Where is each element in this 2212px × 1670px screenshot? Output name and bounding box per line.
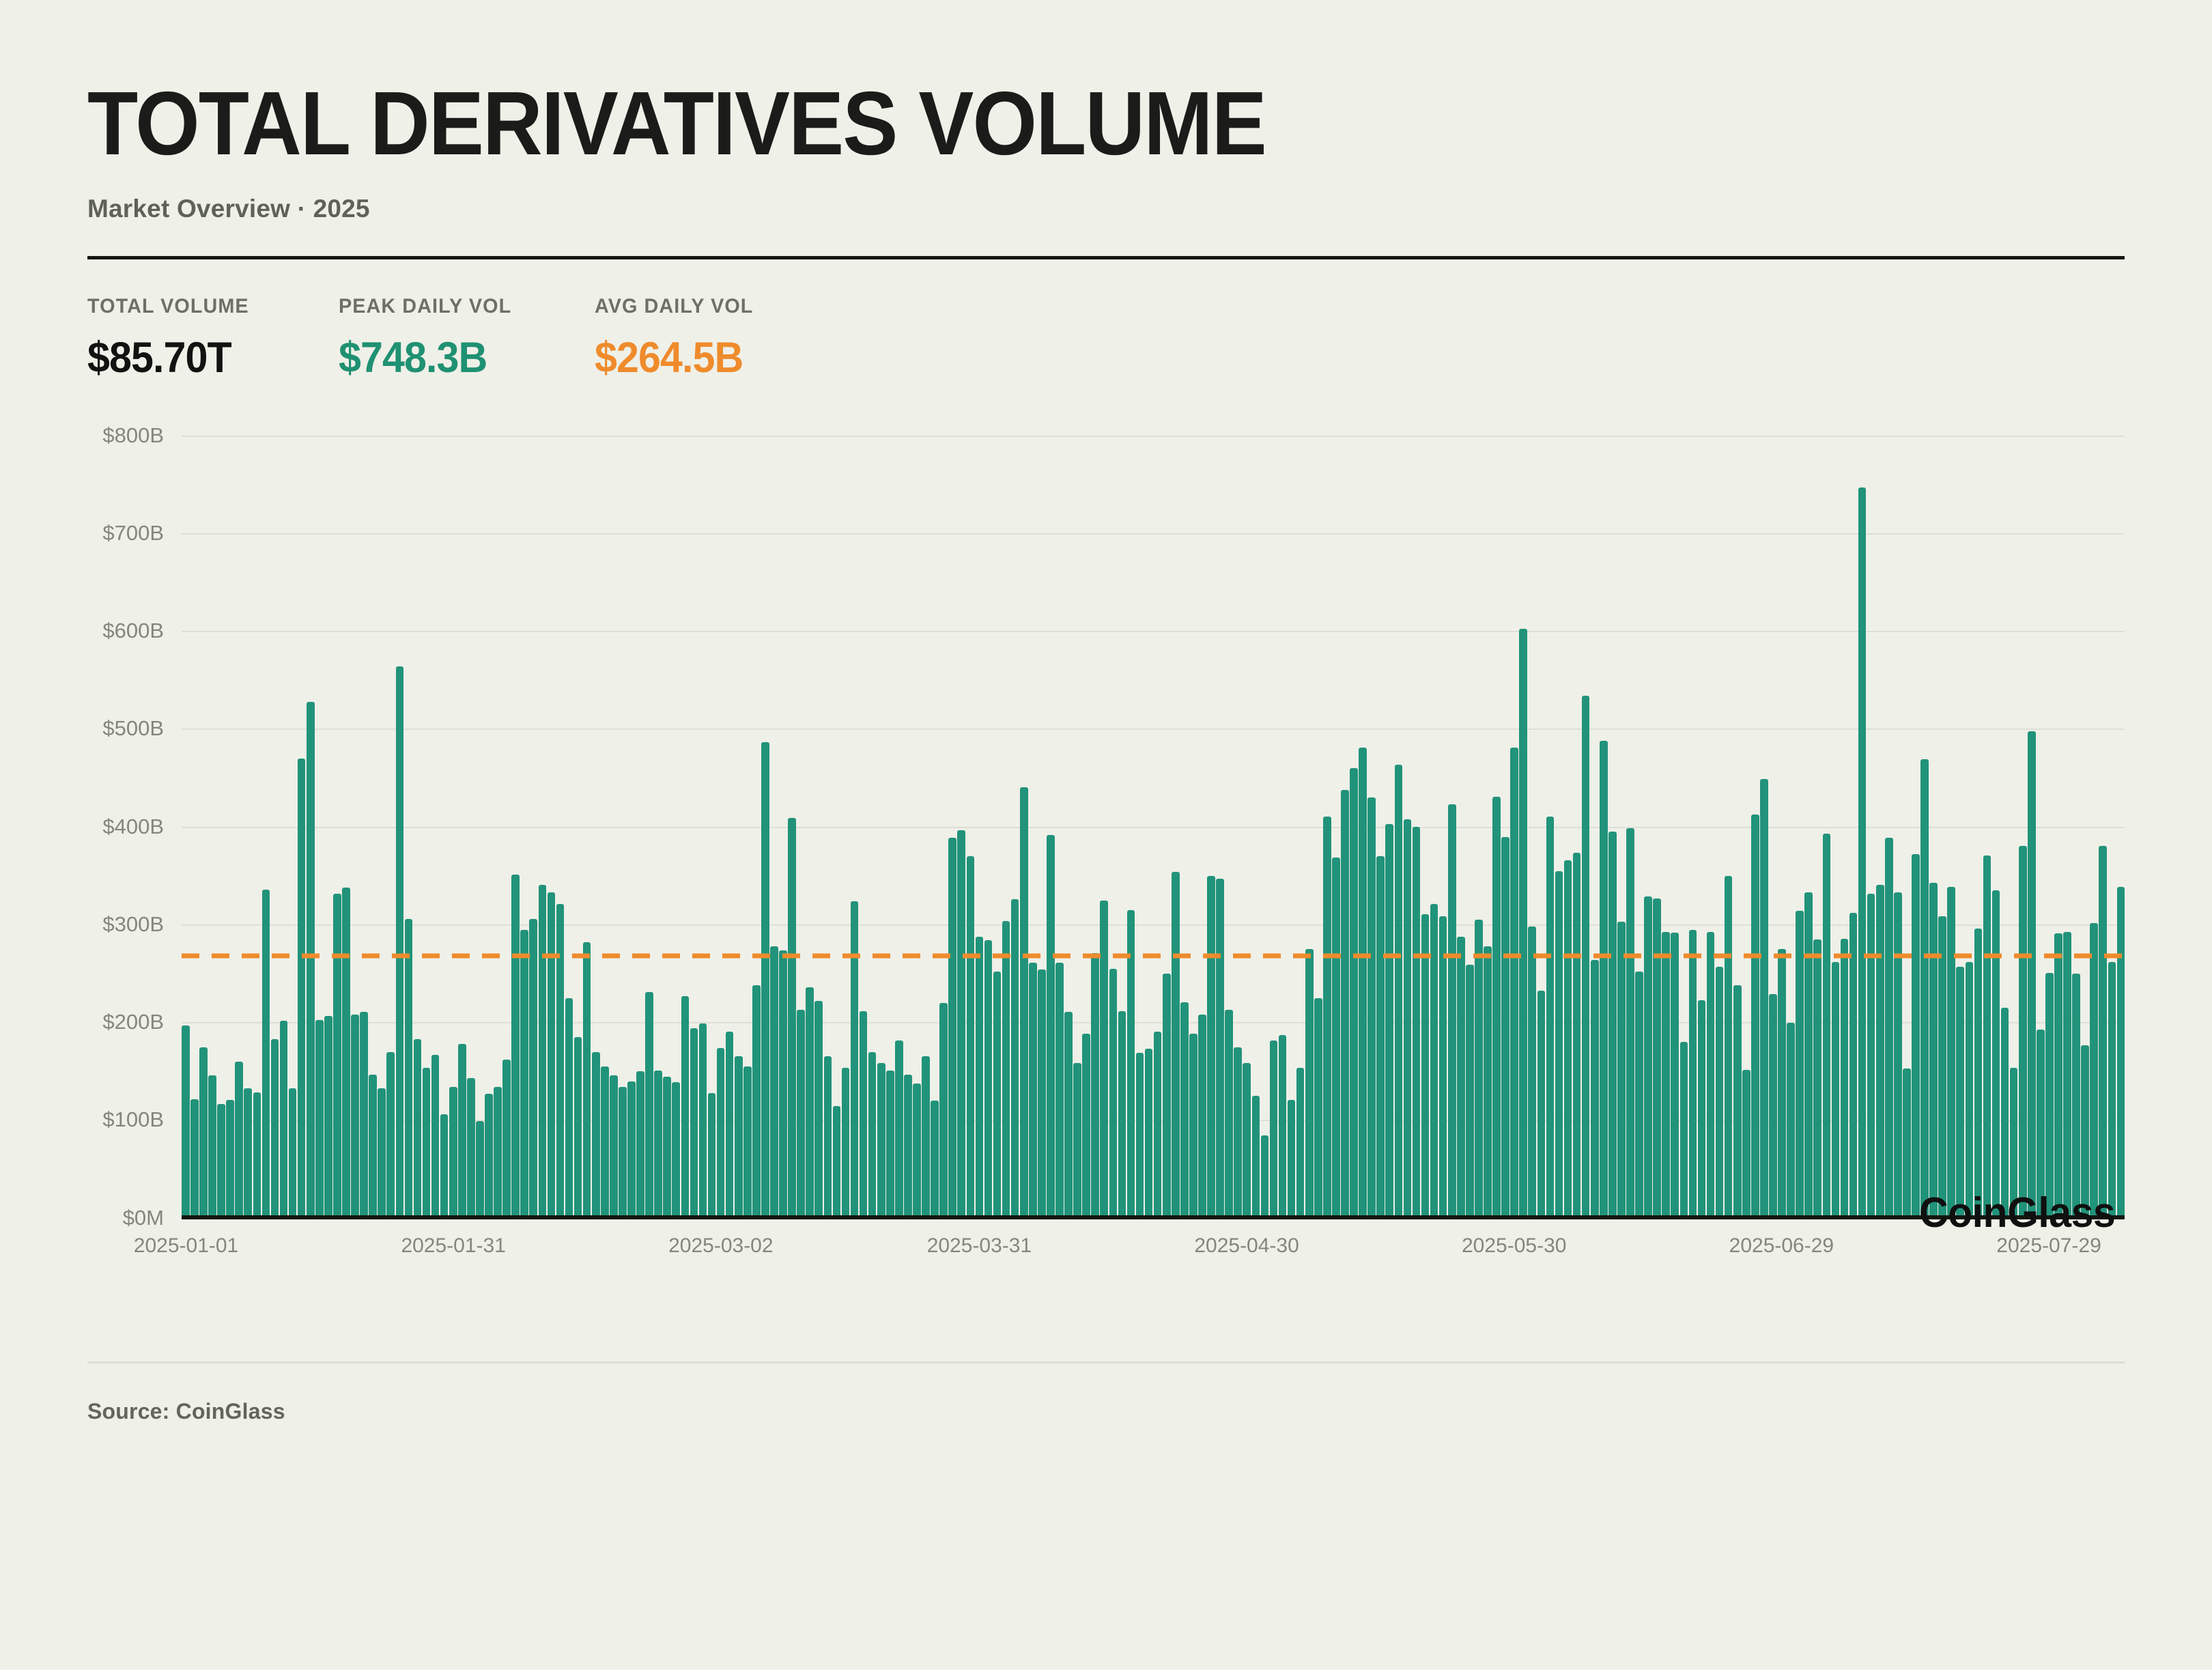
bar bbox=[1207, 876, 1215, 1219]
bar bbox=[806, 987, 814, 1219]
bar bbox=[1698, 1000, 1706, 1219]
bar bbox=[298, 759, 306, 1219]
bar bbox=[610, 1075, 618, 1219]
bar bbox=[1376, 856, 1385, 1219]
bar bbox=[1296, 1068, 1305, 1219]
bar bbox=[2063, 932, 2071, 1219]
bar bbox=[511, 875, 520, 1219]
bar bbox=[2001, 1008, 2009, 1219]
bar bbox=[1047, 835, 1055, 1219]
bar bbox=[199, 1047, 208, 1219]
bar bbox=[307, 702, 315, 1219]
bar bbox=[1841, 939, 1849, 1219]
bar bbox=[1823, 834, 1831, 1219]
bar bbox=[396, 666, 404, 1219]
bar bbox=[833, 1106, 841, 1219]
volume-bar-chart: $0M$100B$200B$300B$400B$500B$600B$700B$8… bbox=[87, 422, 2125, 1303]
x-axis-tick-label: 2025-06-29 bbox=[1729, 1234, 1834, 1258]
x-axis-tick-label: 2025-07-29 bbox=[1996, 1234, 2101, 1258]
bar bbox=[360, 1012, 368, 1219]
bar bbox=[1769, 994, 1777, 1219]
bar bbox=[814, 1001, 823, 1219]
y-axis-tick-label: $500B bbox=[102, 716, 164, 741]
bar bbox=[1404, 819, 1412, 1219]
infographic-page: TOTAL DERIVATIVES VOLUME Market Overview… bbox=[0, 0, 2212, 1670]
x-axis-tick-label: 2025-04-30 bbox=[1194, 1234, 1299, 1258]
bar bbox=[1367, 797, 1376, 1219]
bar bbox=[1154, 1032, 1162, 1219]
bar bbox=[1662, 932, 1670, 1219]
bar bbox=[1323, 817, 1331, 1219]
bar bbox=[1216, 879, 1224, 1219]
bar bbox=[627, 1081, 636, 1219]
bar bbox=[770, 946, 778, 1219]
bar bbox=[1546, 817, 1555, 1219]
bar bbox=[1055, 963, 1064, 1219]
bar bbox=[1118, 1011, 1126, 1219]
bar bbox=[1421, 914, 1430, 1219]
bar bbox=[1002, 921, 1010, 1219]
bar bbox=[405, 919, 413, 1219]
bar bbox=[860, 1011, 868, 1219]
bar bbox=[315, 1020, 324, 1219]
bar bbox=[743, 1066, 752, 1219]
bar bbox=[1716, 967, 1724, 1219]
bar bbox=[1920, 759, 1929, 1219]
bar bbox=[253, 1092, 261, 1219]
bar bbox=[1305, 949, 1314, 1219]
bar bbox=[1867, 894, 1875, 1219]
bar bbox=[636, 1071, 644, 1219]
bar bbox=[1475, 920, 1483, 1219]
bar bbox=[1813, 939, 1821, 1219]
bar bbox=[1519, 629, 1527, 1219]
bar bbox=[423, 1068, 431, 1219]
bar bbox=[386, 1052, 395, 1219]
bar bbox=[726, 1032, 734, 1219]
bar bbox=[672, 1082, 680, 1219]
bar bbox=[449, 1087, 457, 1219]
bar bbox=[1448, 804, 1456, 1219]
bar bbox=[663, 1077, 671, 1219]
bar bbox=[1064, 1012, 1073, 1219]
bar bbox=[904, 1075, 912, 1219]
bar bbox=[681, 996, 690, 1219]
y-axis-tick-label: $100B bbox=[102, 1107, 164, 1132]
bar bbox=[1011, 899, 1019, 1219]
bar bbox=[1938, 916, 1946, 1219]
y-axis-tick-label: $200B bbox=[102, 1010, 164, 1034]
bar bbox=[1966, 962, 1974, 1219]
bar bbox=[1858, 487, 1867, 1219]
kpi-total-volume-label: TOTAL VOLUME bbox=[87, 295, 328, 318]
bar bbox=[957, 830, 965, 1219]
bar bbox=[2108, 962, 2116, 1219]
bar bbox=[1439, 916, 1447, 1219]
bar bbox=[2045, 973, 2054, 1219]
bar bbox=[1947, 887, 1955, 1219]
bar bbox=[476, 1121, 484, 1219]
bar bbox=[1885, 838, 1893, 1219]
bar bbox=[1671, 933, 1679, 1219]
bar bbox=[1555, 871, 1563, 1219]
bar bbox=[548, 892, 556, 1219]
bar bbox=[1430, 904, 1438, 1219]
bar bbox=[1492, 797, 1501, 1219]
source-note: Source: CoinGlass bbox=[87, 1363, 2125, 1424]
bar bbox=[993, 972, 1002, 1219]
bar bbox=[369, 1075, 377, 1219]
bar bbox=[1653, 898, 1661, 1219]
bar bbox=[1109, 969, 1118, 1219]
bar bbox=[1617, 922, 1626, 1219]
bar bbox=[699, 1023, 707, 1219]
kpi-avg-daily-vol-label: AVG DAILY VOL bbox=[595, 295, 844, 318]
bar bbox=[886, 1071, 894, 1219]
bar bbox=[690, 1028, 698, 1219]
chart-x-axis: 2025-01-012025-01-312025-03-022025-03-31… bbox=[182, 1234, 2125, 1264]
x-axis-tick-label: 2025-01-01 bbox=[134, 1234, 238, 1258]
y-axis-tick-label: $700B bbox=[102, 521, 164, 546]
bar bbox=[502, 1060, 511, 1219]
bar bbox=[1644, 896, 1652, 1219]
x-axis-tick-label: 2025-03-31 bbox=[927, 1234, 1032, 1258]
bar bbox=[414, 1039, 422, 1219]
bar bbox=[1707, 932, 1715, 1219]
kpi-total-volume: TOTAL VOLUME $85.70T bbox=[87, 295, 339, 382]
bar bbox=[1261, 1135, 1269, 1219]
bar bbox=[262, 890, 270, 1219]
bar bbox=[494, 1087, 502, 1219]
bar bbox=[868, 1052, 877, 1219]
bar bbox=[1608, 832, 1617, 1219]
bar bbox=[1082, 1034, 1090, 1219]
bar bbox=[2037, 1030, 2045, 1219]
bar bbox=[1359, 748, 1367, 1219]
x-axis-tick-label: 2025-01-31 bbox=[401, 1234, 505, 1258]
bar bbox=[797, 1010, 805, 1219]
bar bbox=[1510, 748, 1518, 1219]
bar bbox=[931, 1101, 939, 1219]
bar bbox=[1020, 787, 1028, 1219]
bar bbox=[913, 1084, 921, 1219]
bar bbox=[1189, 1034, 1197, 1219]
chart-plot-area: $0M$100B$200B$300B$400B$500B$600B$700B$8… bbox=[182, 437, 2125, 1219]
bar bbox=[1484, 946, 1492, 1219]
bar bbox=[1252, 1096, 1260, 1219]
bar bbox=[1528, 926, 1536, 1219]
bar bbox=[1243, 1063, 1251, 1219]
bar bbox=[190, 1099, 199, 1219]
bar bbox=[1163, 974, 1171, 1219]
bar bbox=[324, 1016, 332, 1219]
bar bbox=[1270, 1041, 1278, 1219]
bar bbox=[556, 904, 565, 1219]
bar bbox=[2090, 923, 2098, 1219]
bar bbox=[2010, 1068, 2018, 1219]
bar bbox=[458, 1044, 466, 1219]
y-axis-tick-label: $600B bbox=[102, 619, 164, 643]
bar bbox=[1992, 890, 2000, 1219]
bar bbox=[1180, 1002, 1189, 1219]
bar bbox=[1279, 1035, 1287, 1219]
bar bbox=[1288, 1100, 1296, 1219]
y-axis-tick-label: $800B bbox=[102, 423, 164, 448]
bar bbox=[467, 1078, 475, 1219]
bar bbox=[1974, 929, 1983, 1219]
bar bbox=[440, 1114, 449, 1219]
average-line bbox=[182, 953, 2125, 958]
bar bbox=[1894, 892, 1902, 1219]
x-axis-tick-label: 2025-05-30 bbox=[1462, 1234, 1566, 1258]
bar bbox=[1136, 1053, 1144, 1219]
bar bbox=[939, 1003, 948, 1219]
bar bbox=[1413, 827, 1421, 1219]
y-axis-tick-label: $400B bbox=[102, 815, 164, 839]
bar bbox=[851, 901, 859, 1219]
bar bbox=[1198, 1015, 1206, 1219]
bar bbox=[976, 937, 984, 1219]
bar bbox=[2054, 933, 2062, 1219]
bar bbox=[583, 942, 591, 1219]
bar bbox=[485, 1094, 493, 1219]
kpi-avg-daily-vol-value: $264.5B bbox=[595, 318, 838, 382]
bar bbox=[654, 1071, 662, 1219]
bar bbox=[1234, 1047, 1242, 1219]
bar bbox=[1537, 991, 1546, 1219]
bar bbox=[226, 1100, 234, 1219]
bar bbox=[1314, 998, 1322, 1219]
bar bbox=[1385, 824, 1393, 1219]
bar bbox=[877, 1063, 885, 1219]
y-axis-tick-label: $300B bbox=[102, 912, 164, 937]
bar bbox=[1600, 741, 1608, 1219]
bar bbox=[565, 998, 573, 1219]
bar bbox=[2072, 974, 2080, 1219]
bar bbox=[1172, 872, 1180, 1219]
bar bbox=[984, 940, 993, 1219]
chart-baseline-axis bbox=[182, 1215, 2125, 1219]
bar bbox=[1876, 885, 1884, 1219]
bar bbox=[235, 1062, 243, 1219]
bar bbox=[1501, 837, 1509, 1219]
chart-bars bbox=[182, 437, 2125, 1219]
bar bbox=[1804, 892, 1813, 1219]
bar bbox=[592, 1052, 600, 1219]
kpi-peak-daily-vol: PEAK DAILY VOL $748.3B bbox=[339, 295, 595, 382]
bar bbox=[378, 1088, 386, 1219]
bar bbox=[1912, 854, 1920, 1219]
bar bbox=[948, 838, 956, 1219]
bar bbox=[1956, 967, 1964, 1219]
bar bbox=[342, 888, 350, 1219]
bar bbox=[2117, 887, 2125, 1219]
bar bbox=[1073, 1063, 1081, 1219]
bar bbox=[520, 930, 528, 1219]
kpi-avg-daily-vol: AVG DAILY VOL $264.5B bbox=[595, 295, 854, 382]
bar bbox=[280, 1021, 288, 1219]
bar bbox=[1564, 860, 1572, 1219]
bar bbox=[244, 1088, 252, 1219]
bar bbox=[1466, 965, 1474, 1219]
bar bbox=[271, 1039, 279, 1219]
bar bbox=[1778, 949, 1786, 1219]
bar bbox=[779, 950, 787, 1219]
bar bbox=[1983, 855, 1991, 1219]
bar bbox=[1591, 960, 1599, 1219]
bar bbox=[761, 742, 769, 1219]
bar bbox=[1029, 963, 1037, 1219]
bar bbox=[217, 1104, 225, 1219]
bar bbox=[1626, 828, 1634, 1219]
bar bbox=[1733, 985, 1742, 1219]
bar bbox=[289, 1088, 297, 1219]
bar bbox=[351, 1015, 359, 1219]
bar bbox=[1350, 768, 1358, 1219]
bar bbox=[1457, 937, 1465, 1219]
x-axis-tick-label: 2025-03-02 bbox=[668, 1234, 773, 1258]
bar bbox=[1038, 970, 1046, 1219]
bar bbox=[717, 1048, 725, 1219]
kpi-total-volume-value: $85.70T bbox=[87, 318, 324, 382]
bar bbox=[735, 1056, 743, 1219]
bar bbox=[1832, 962, 1840, 1219]
bar bbox=[2099, 846, 2107, 1219]
bar bbox=[1760, 779, 1768, 1219]
bar bbox=[708, 1093, 716, 1219]
bar bbox=[645, 992, 653, 1219]
y-axis-tick-label: $0M bbox=[123, 1206, 164, 1230]
bar bbox=[1680, 1042, 1688, 1219]
bar bbox=[967, 856, 975, 1219]
bar bbox=[1787, 1023, 1795, 1219]
bar bbox=[2019, 846, 2027, 1219]
bar bbox=[922, 1056, 930, 1219]
bar bbox=[2081, 1045, 2089, 1219]
kpi-row: TOTAL VOLUME $85.70T PEAK DAILY VOL $748… bbox=[87, 259, 2125, 382]
bar bbox=[619, 1087, 627, 1219]
bar bbox=[824, 1056, 832, 1219]
bar bbox=[895, 1041, 903, 1219]
bar bbox=[788, 818, 796, 1219]
bar bbox=[752, 985, 761, 1219]
bar bbox=[539, 885, 547, 1219]
bar bbox=[182, 1025, 190, 1219]
bar bbox=[529, 919, 537, 1219]
page-subtitle: Market Overview · 2025 bbox=[87, 167, 2125, 223]
kpi-peak-daily-vol-value: $748.3B bbox=[339, 318, 580, 382]
bar bbox=[1395, 765, 1403, 1219]
bar bbox=[1849, 913, 1858, 1219]
bar bbox=[1091, 953, 1099, 1219]
bar bbox=[1689, 930, 1697, 1219]
bar bbox=[1145, 1049, 1153, 1219]
bar bbox=[601, 1066, 609, 1219]
bar bbox=[333, 894, 341, 1219]
bar bbox=[208, 1075, 216, 1219]
bar bbox=[2028, 731, 2036, 1219]
bar bbox=[1332, 858, 1340, 1219]
bar bbox=[842, 1068, 850, 1219]
bar bbox=[1725, 876, 1733, 1219]
bar bbox=[1929, 883, 1938, 1219]
bar bbox=[431, 1055, 440, 1219]
bar bbox=[1635, 972, 1643, 1219]
bar bbox=[1573, 853, 1581, 1219]
bar bbox=[1341, 790, 1349, 1219]
bar bbox=[1742, 1070, 1750, 1219]
page-title: TOTAL DERIVATIVES VOLUME bbox=[87, 0, 1961, 167]
bar bbox=[1903, 1068, 1911, 1219]
bar bbox=[1225, 1010, 1233, 1219]
bar bbox=[1100, 901, 1108, 1219]
kpi-peak-daily-vol-label: PEAK DAILY VOL bbox=[339, 295, 584, 318]
bar bbox=[1751, 815, 1759, 1219]
bar bbox=[574, 1037, 582, 1219]
